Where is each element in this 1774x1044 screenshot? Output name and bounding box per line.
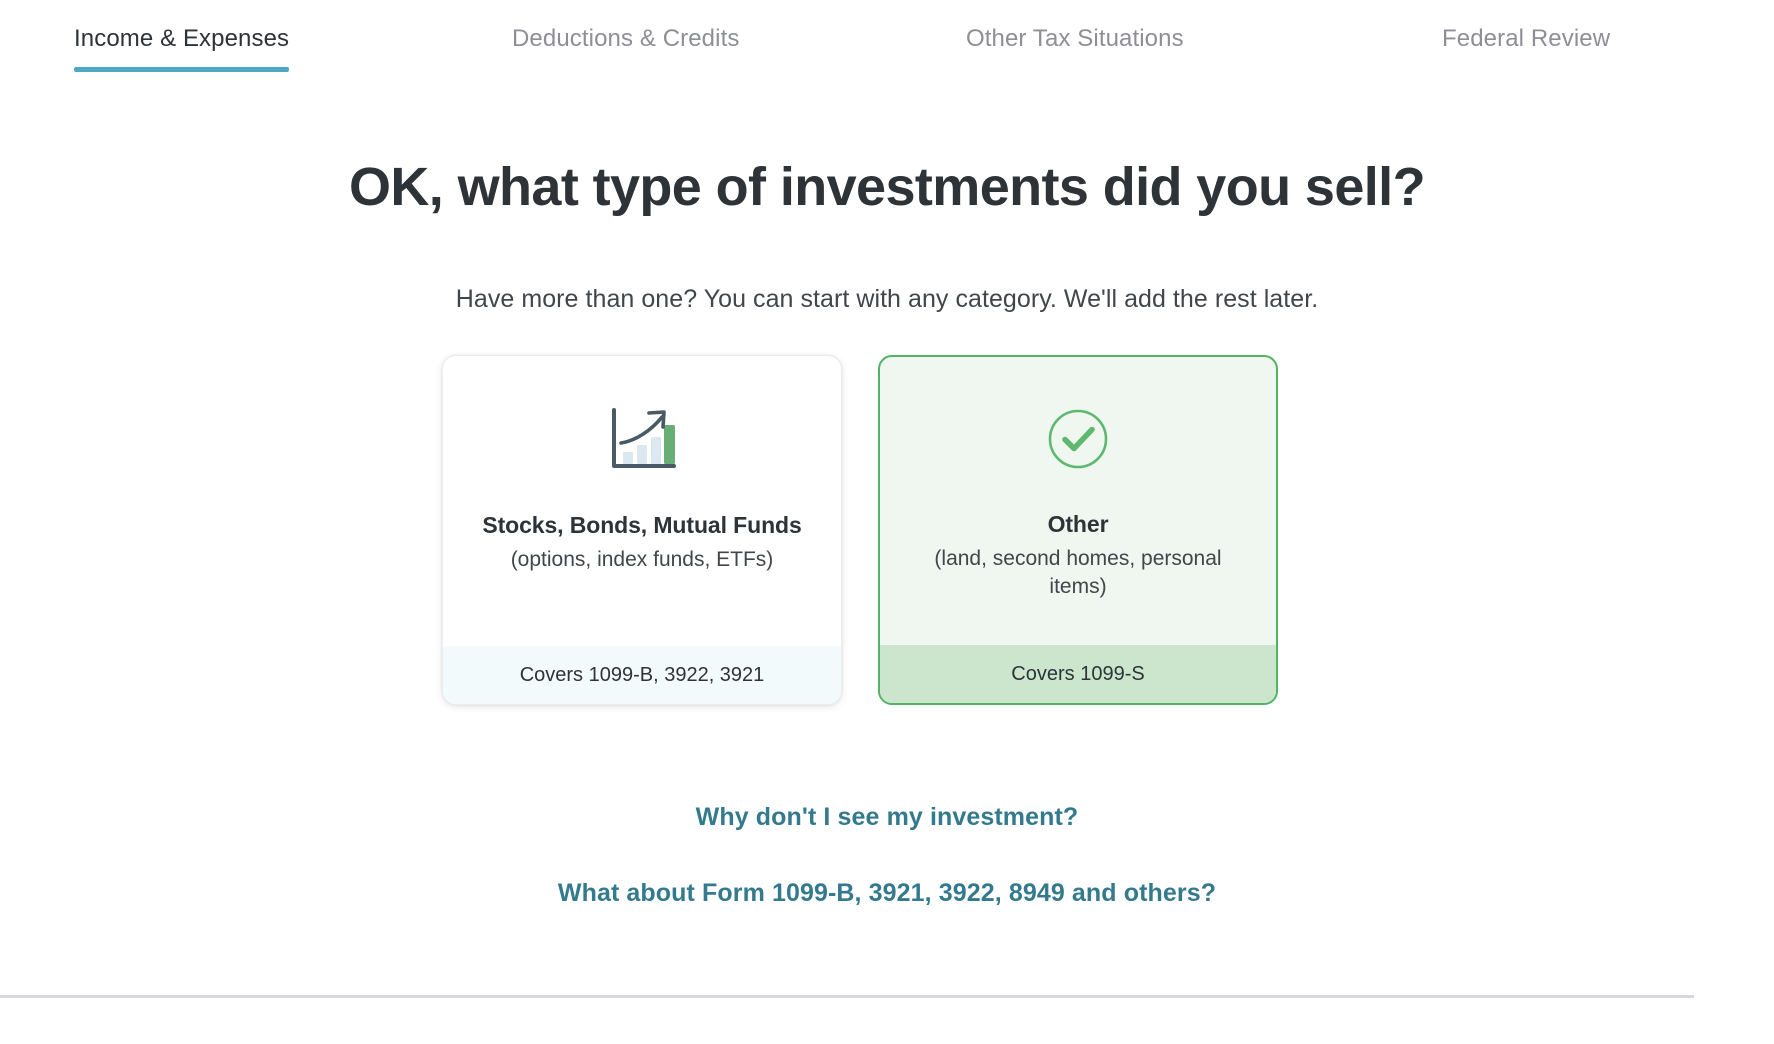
tab-other-tax-situations[interactable]: Other Tax Situations (966, 22, 1184, 56)
tab-label: Federal Review (1442, 25, 1610, 52)
growth-chart-icon (604, 402, 680, 478)
card-footer-covers: Covers 1099-B, 3922, 3921 (443, 646, 841, 704)
investment-type-card-group: Stocks, Bonds, Mutual Funds (options, in… (442, 355, 1278, 705)
card-subtitle: (land, second homes, personal items) (928, 545, 1228, 601)
tab-label: Deductions & Credits (512, 25, 739, 52)
tab-label: Income & Expenses (74, 25, 289, 52)
page-subtitle: Have more than one? You can start with a… (0, 282, 1774, 316)
link-what-about-form-1099b[interactable]: What about Form 1099-B, 3921, 3922, 8949… (0, 876, 1774, 910)
page-title: OK, what type of investments did you sel… (0, 154, 1774, 220)
card-body: Stocks, Bonds, Mutual Funds (options, in… (443, 356, 841, 646)
primary-tabbar: Income & Expenses Deductions & Credits O… (0, 0, 1774, 86)
tab-federal-review[interactable]: Federal Review (1442, 22, 1610, 56)
help-link-group: Why don't I see my investment? What abou… (0, 800, 1774, 910)
card-footer-covers: Covers 1099-S (880, 645, 1276, 703)
card-title: Stocks, Bonds, Mutual Funds (482, 510, 801, 540)
check-circle-icon (1047, 401, 1109, 477)
app-page: Income & Expenses Deductions & Credits O… (0, 0, 1774, 1044)
card-other[interactable]: Other (land, second homes, personal item… (878, 355, 1278, 705)
footer-divider (0, 995, 1694, 998)
tab-income-and-expenses[interactable]: Income & Expenses (74, 22, 289, 56)
card-title: Other (1048, 509, 1109, 539)
link-why-dont-i-see-my-investment[interactable]: Why don't I see my investment? (0, 800, 1774, 834)
card-stocks-bonds-mutual-funds[interactable]: Stocks, Bonds, Mutual Funds (options, in… (442, 355, 842, 705)
active-tab-underline (74, 67, 289, 72)
card-body: Other (land, second homes, personal item… (880, 357, 1276, 645)
tab-deductions-and-credits[interactable]: Deductions & Credits (512, 22, 739, 56)
tab-label: Other Tax Situations (966, 25, 1184, 52)
card-subtitle: (options, index funds, ETFs) (492, 546, 792, 574)
